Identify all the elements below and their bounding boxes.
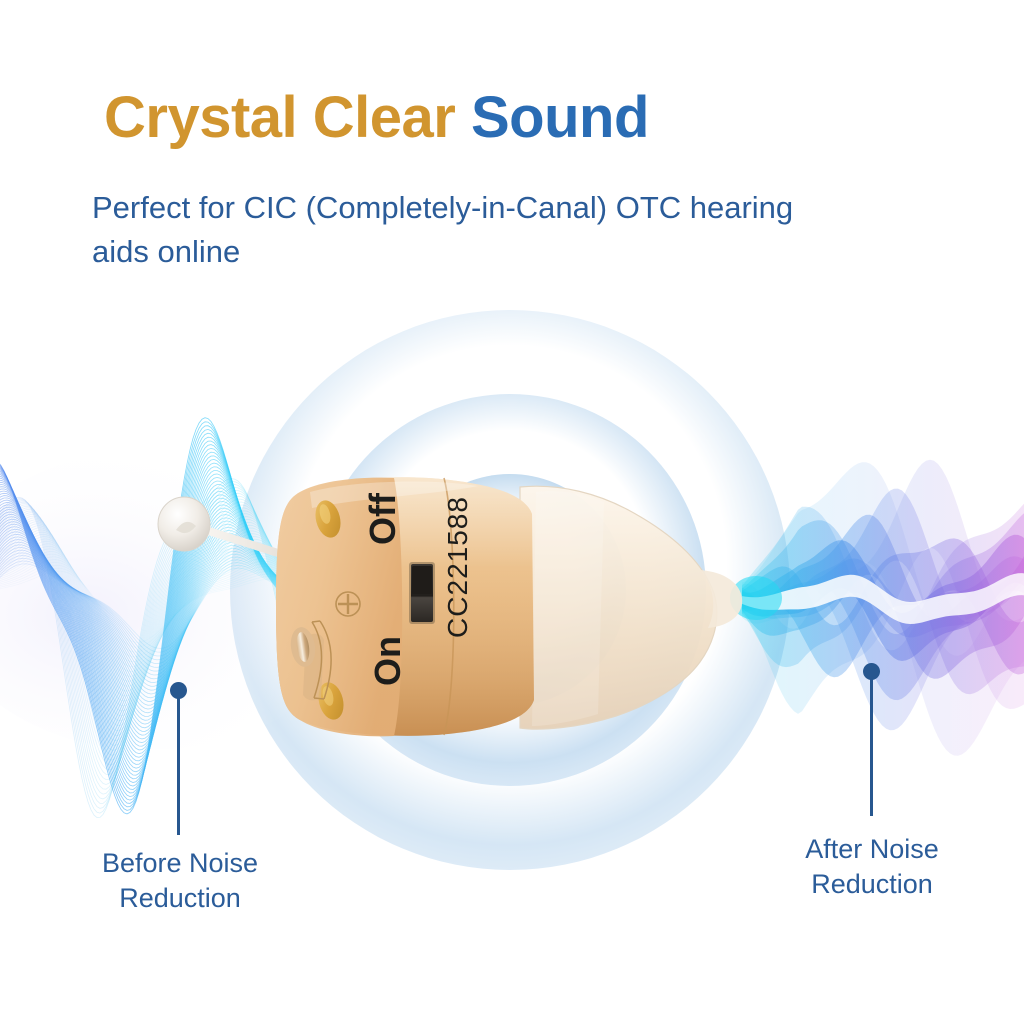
infographic-canvas: Off On CC221588 Crystal Clear Sound Perf… [0,0,1024,1024]
halo-ring-inner [394,474,626,706]
page-title-part-1: Crystal Clear [104,85,471,150]
callout-after-noise-reduction: After Noise Reduction [752,832,992,902]
page-subtitle: Perfect for CIC (Completely-in-Canal) OT… [92,186,852,274]
callout-before-line2: Reduction [44,881,316,916]
page-title: Crystal Clear Sound [104,88,649,149]
callout-after-line2: Reduction [752,867,992,902]
after-pointer-line [870,676,873,816]
callout-after-line1: After Noise [752,832,992,867]
page-title-part-2: Sound [471,85,649,150]
callout-before-noise-reduction: Before Noise Reduction [44,846,316,916]
switch-on-label: On [367,636,409,686]
serial-number: CC221588 [442,496,474,638]
switch-off-label: Off [362,493,404,545]
before-pointer-line [177,695,180,835]
callout-before-line1: Before Noise [44,846,316,881]
